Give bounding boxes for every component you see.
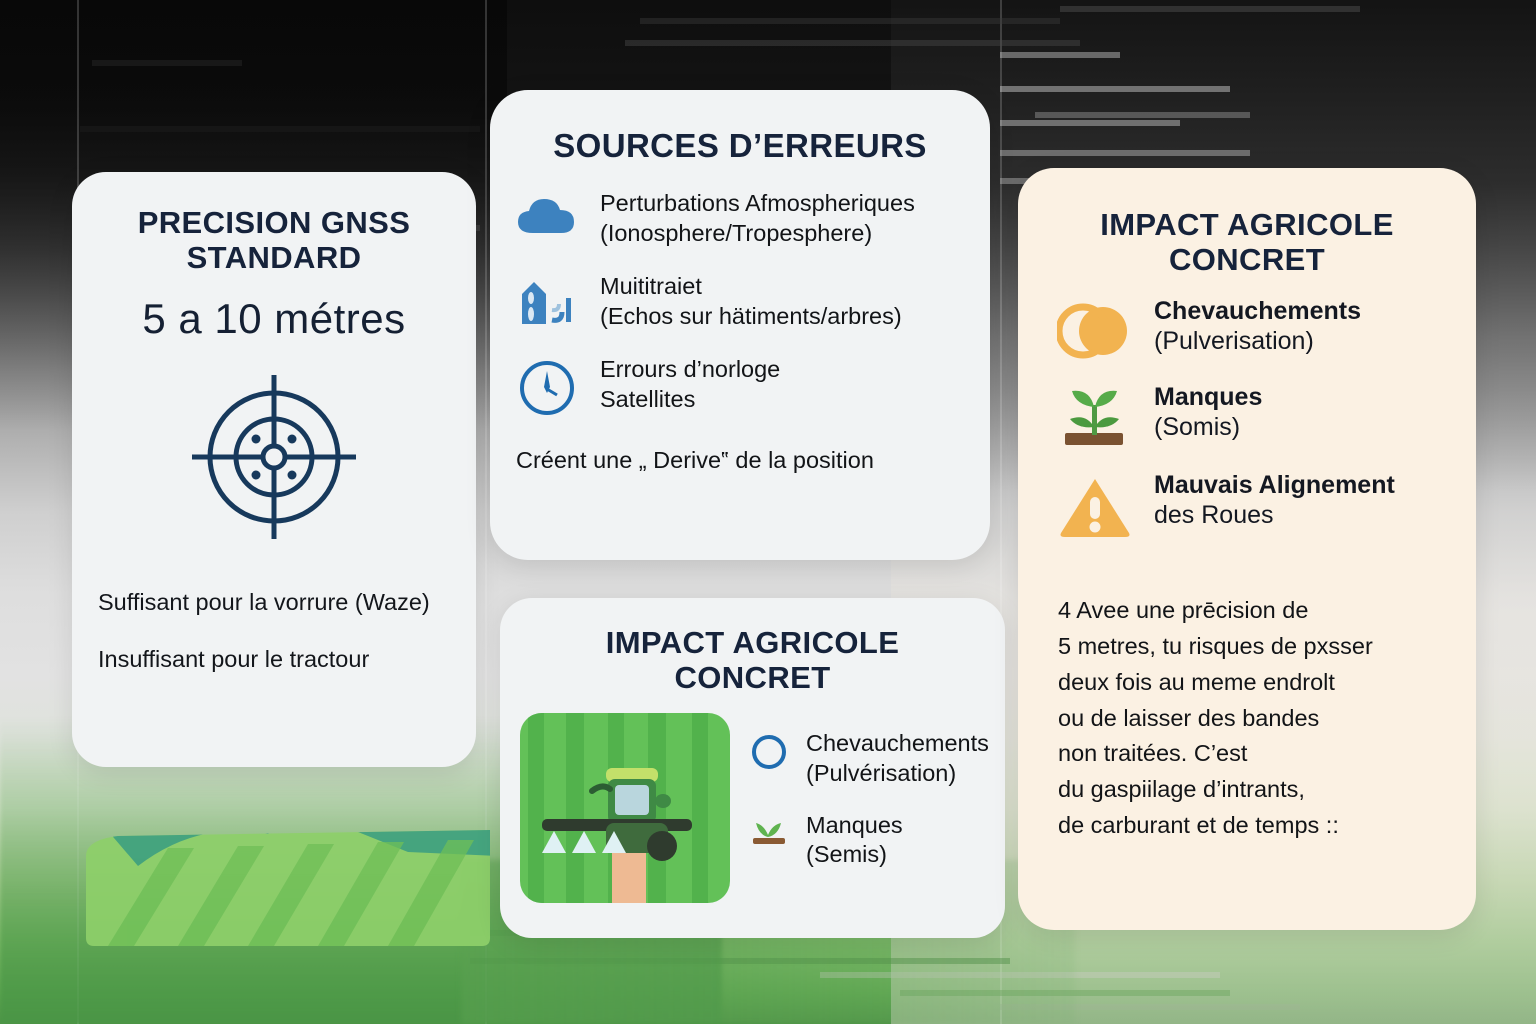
list-item-sublabel: (Ionosphere/Tropesphere) bbox=[600, 219, 915, 249]
warning-triangle-icon bbox=[1056, 471, 1134, 539]
list-item-label: Chevauchements bbox=[806, 730, 989, 756]
list-item: Manques (Semis) bbox=[748, 811, 989, 870]
list-item-label: Muititraiet bbox=[600, 273, 702, 299]
clock-icon bbox=[516, 355, 578, 417]
impact-mid-body: Chevauchements (Pulvérisation) Manques (… bbox=[500, 695, 1005, 903]
list-item-text: Chevauchements (Pulverisation) bbox=[1154, 297, 1361, 356]
sources-list: Perturbations Afmospheriques (Ionosphere… bbox=[490, 165, 990, 417]
background-streak bbox=[92, 60, 242, 66]
field-landscape-illustration bbox=[78, 796, 498, 946]
list-item-label: Manques bbox=[1154, 383, 1262, 411]
list-item: Muititraiet (Echos sur hätiments/arbres) bbox=[516, 272, 962, 331]
list-item-sublabel: (Semis) bbox=[806, 840, 903, 870]
list-item-label: Manques bbox=[806, 812, 903, 838]
card-impact-agricole-right: IMPACT AGRICOLE CONCRET Chevauchements (… bbox=[1018, 168, 1476, 930]
sources-footer-text: Créent une „ Derive‟ de la position bbox=[490, 441, 990, 474]
card-precision-gnss: PRECISION GNSS STANDARD 5 a 10 métres Su… bbox=[72, 172, 476, 767]
list-item-sublabel: (Pulverisation) bbox=[1154, 327, 1361, 357]
circle-outline-icon bbox=[748, 729, 790, 771]
list-item-text: Manques (Semis) bbox=[806, 811, 903, 870]
impact-mid-list: Chevauchements (Pulvérisation) Manques (… bbox=[748, 713, 989, 903]
impact-right-card-title: IMPACT AGRICOLE CONCRET bbox=[1018, 168, 1476, 277]
background-streak bbox=[1000, 120, 1180, 126]
sprout-icon bbox=[748, 811, 790, 849]
list-item-label: Errours d’norloge bbox=[600, 356, 780, 382]
background-streak bbox=[1035, 112, 1250, 118]
background-streak bbox=[640, 18, 1060, 24]
background-streak bbox=[1000, 52, 1120, 58]
impact-mid-card-title: IMPACT AGRICOLE CONCRET bbox=[500, 598, 1005, 695]
list-item: Perturbations Afmospheriques (Ionosphere… bbox=[516, 189, 962, 248]
list-item: Chevauchements (Pulverisation) bbox=[1056, 297, 1456, 361]
plant-icon bbox=[1056, 383, 1134, 449]
list-item: Chevauchements (Pulvérisation) bbox=[748, 729, 989, 788]
crosshair-target-icon-wrapper bbox=[72, 369, 476, 545]
list-item-label: Perturbations Afmospheriques bbox=[600, 190, 915, 216]
overlap-circles-icon bbox=[1056, 297, 1134, 361]
list-item-text: Chevauchements (Pulvérisation) bbox=[806, 729, 989, 788]
background-streak bbox=[80, 126, 480, 132]
building-signal-icon bbox=[516, 272, 578, 328]
list-item-label: Mauvais Alignement bbox=[1154, 471, 1395, 499]
precision-notes: Suffisant pour la vorrure (Waze) Insuffi… bbox=[72, 545, 476, 673]
impact-right-list: Chevauchements (Pulverisation) Manques (… bbox=[1018, 277, 1476, 539]
list-item: Mauvais Alignement des Roues bbox=[1056, 471, 1456, 539]
card-sources-erreurs: SOURCES D’ERREURS Perturbations Afmosphe… bbox=[490, 90, 990, 560]
list-item-text: Perturbations Afmospheriques (Ionosphere… bbox=[600, 189, 915, 248]
list-item-sublabel: (Somis) bbox=[1154, 413, 1262, 443]
list-item: Errours d’norloge Satellites bbox=[516, 355, 962, 417]
crosshair-target-icon bbox=[186, 369, 362, 545]
impact-right-paragraph: 4 Avee une prēcision de 5 metres, tu ris… bbox=[1018, 561, 1476, 843]
card-impact-agricole-middle: IMPACT AGRICOLE CONCRET bbox=[500, 598, 1005, 938]
tractor-in-field-illustration bbox=[520, 713, 730, 903]
list-item-text: Manques (Somis) bbox=[1154, 383, 1262, 442]
list-item-text: Mauvais Alignement des Roues bbox=[1154, 471, 1395, 530]
sources-card-title: SOURCES D’ERREURS bbox=[490, 90, 990, 165]
list-item-sublabel: (Echos sur hätiments/arbres) bbox=[600, 302, 902, 332]
list-item-text: Muititraiet (Echos sur hätiments/arbres) bbox=[600, 272, 902, 331]
list-item-text: Errours d’norloge Satellites bbox=[600, 355, 780, 414]
list-item-label: Chevauchements bbox=[1154, 297, 1361, 325]
background-streak bbox=[1000, 150, 1250, 156]
list-item-sublabel: Satellites bbox=[600, 385, 780, 415]
background-streak bbox=[1060, 6, 1360, 12]
background-streak bbox=[1000, 86, 1230, 92]
precision-note: Suffisant pour la vorrure (Waze) bbox=[98, 587, 450, 617]
precision-value-text: 5 a 10 métres bbox=[72, 295, 476, 343]
background-streak bbox=[625, 40, 1080, 46]
cloud-icon bbox=[516, 189, 578, 237]
list-item: Manques (Somis) bbox=[1056, 383, 1456, 449]
precision-note: Insuffisant pour le tractour bbox=[98, 644, 450, 674]
list-item-sublabel: des Roues bbox=[1154, 501, 1395, 531]
precision-card-title: PRECISION GNSS STANDARD bbox=[72, 172, 476, 275]
list-item-sublabel: (Pulvérisation) bbox=[806, 759, 989, 789]
